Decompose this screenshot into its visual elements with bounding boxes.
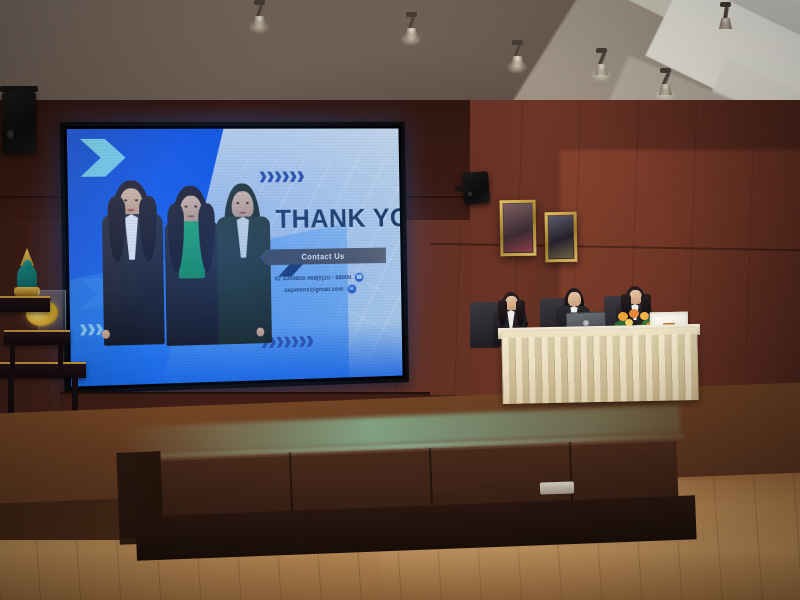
slide-contact-cta-label: Contact Us: [301, 252, 344, 261]
altar-leg: [10, 343, 15, 373]
framed-portrait: [500, 200, 537, 257]
phone-icon: ☎: [355, 273, 363, 282]
speaker-bracket: [455, 186, 467, 191]
slide-email-line: oepmens@gmail.com ✉: [284, 285, 356, 295]
wall-speaker: [2, 92, 36, 154]
slide-phone-text: 02 4304800 #68(0)10 - 68000: [275, 275, 352, 282]
stage-floor-outlet[interactable]: [540, 481, 574, 494]
mail-icon: ✉: [347, 285, 355, 294]
wall-seam: [60, 392, 430, 394]
speaker-bracket: [0, 86, 38, 92]
slide-headline: THANK YOU: [275, 203, 402, 235]
laptop-logo-icon: [583, 320, 589, 326]
buddha-statue: [14, 252, 40, 298]
slide-canvas: THANK YOU Contact Us 02 4304800 #68(0)10…: [67, 128, 403, 386]
led-presentation-screen[interactable]: THANK YOU Contact Us 02 4304800 #68(0)10…: [60, 122, 409, 394]
chevron-right-icon: [80, 139, 126, 177]
conference-hall-photo: THANK YOU Contact Us 02 4304800 #68(0)10…: [0, 0, 800, 600]
panel-table-pleats: [501, 334, 698, 404]
framed-portrait: [545, 212, 578, 263]
altar-leg: [58, 343, 63, 375]
slide-presenter-right: [212, 183, 274, 346]
slide-contact-cta[interactable]: Contact Us: [259, 248, 386, 266]
slide-email-text: oepmens@gmail.com: [284, 286, 343, 293]
chevron-pattern-icon: [260, 171, 304, 182]
altar-tier: [0, 296, 50, 312]
